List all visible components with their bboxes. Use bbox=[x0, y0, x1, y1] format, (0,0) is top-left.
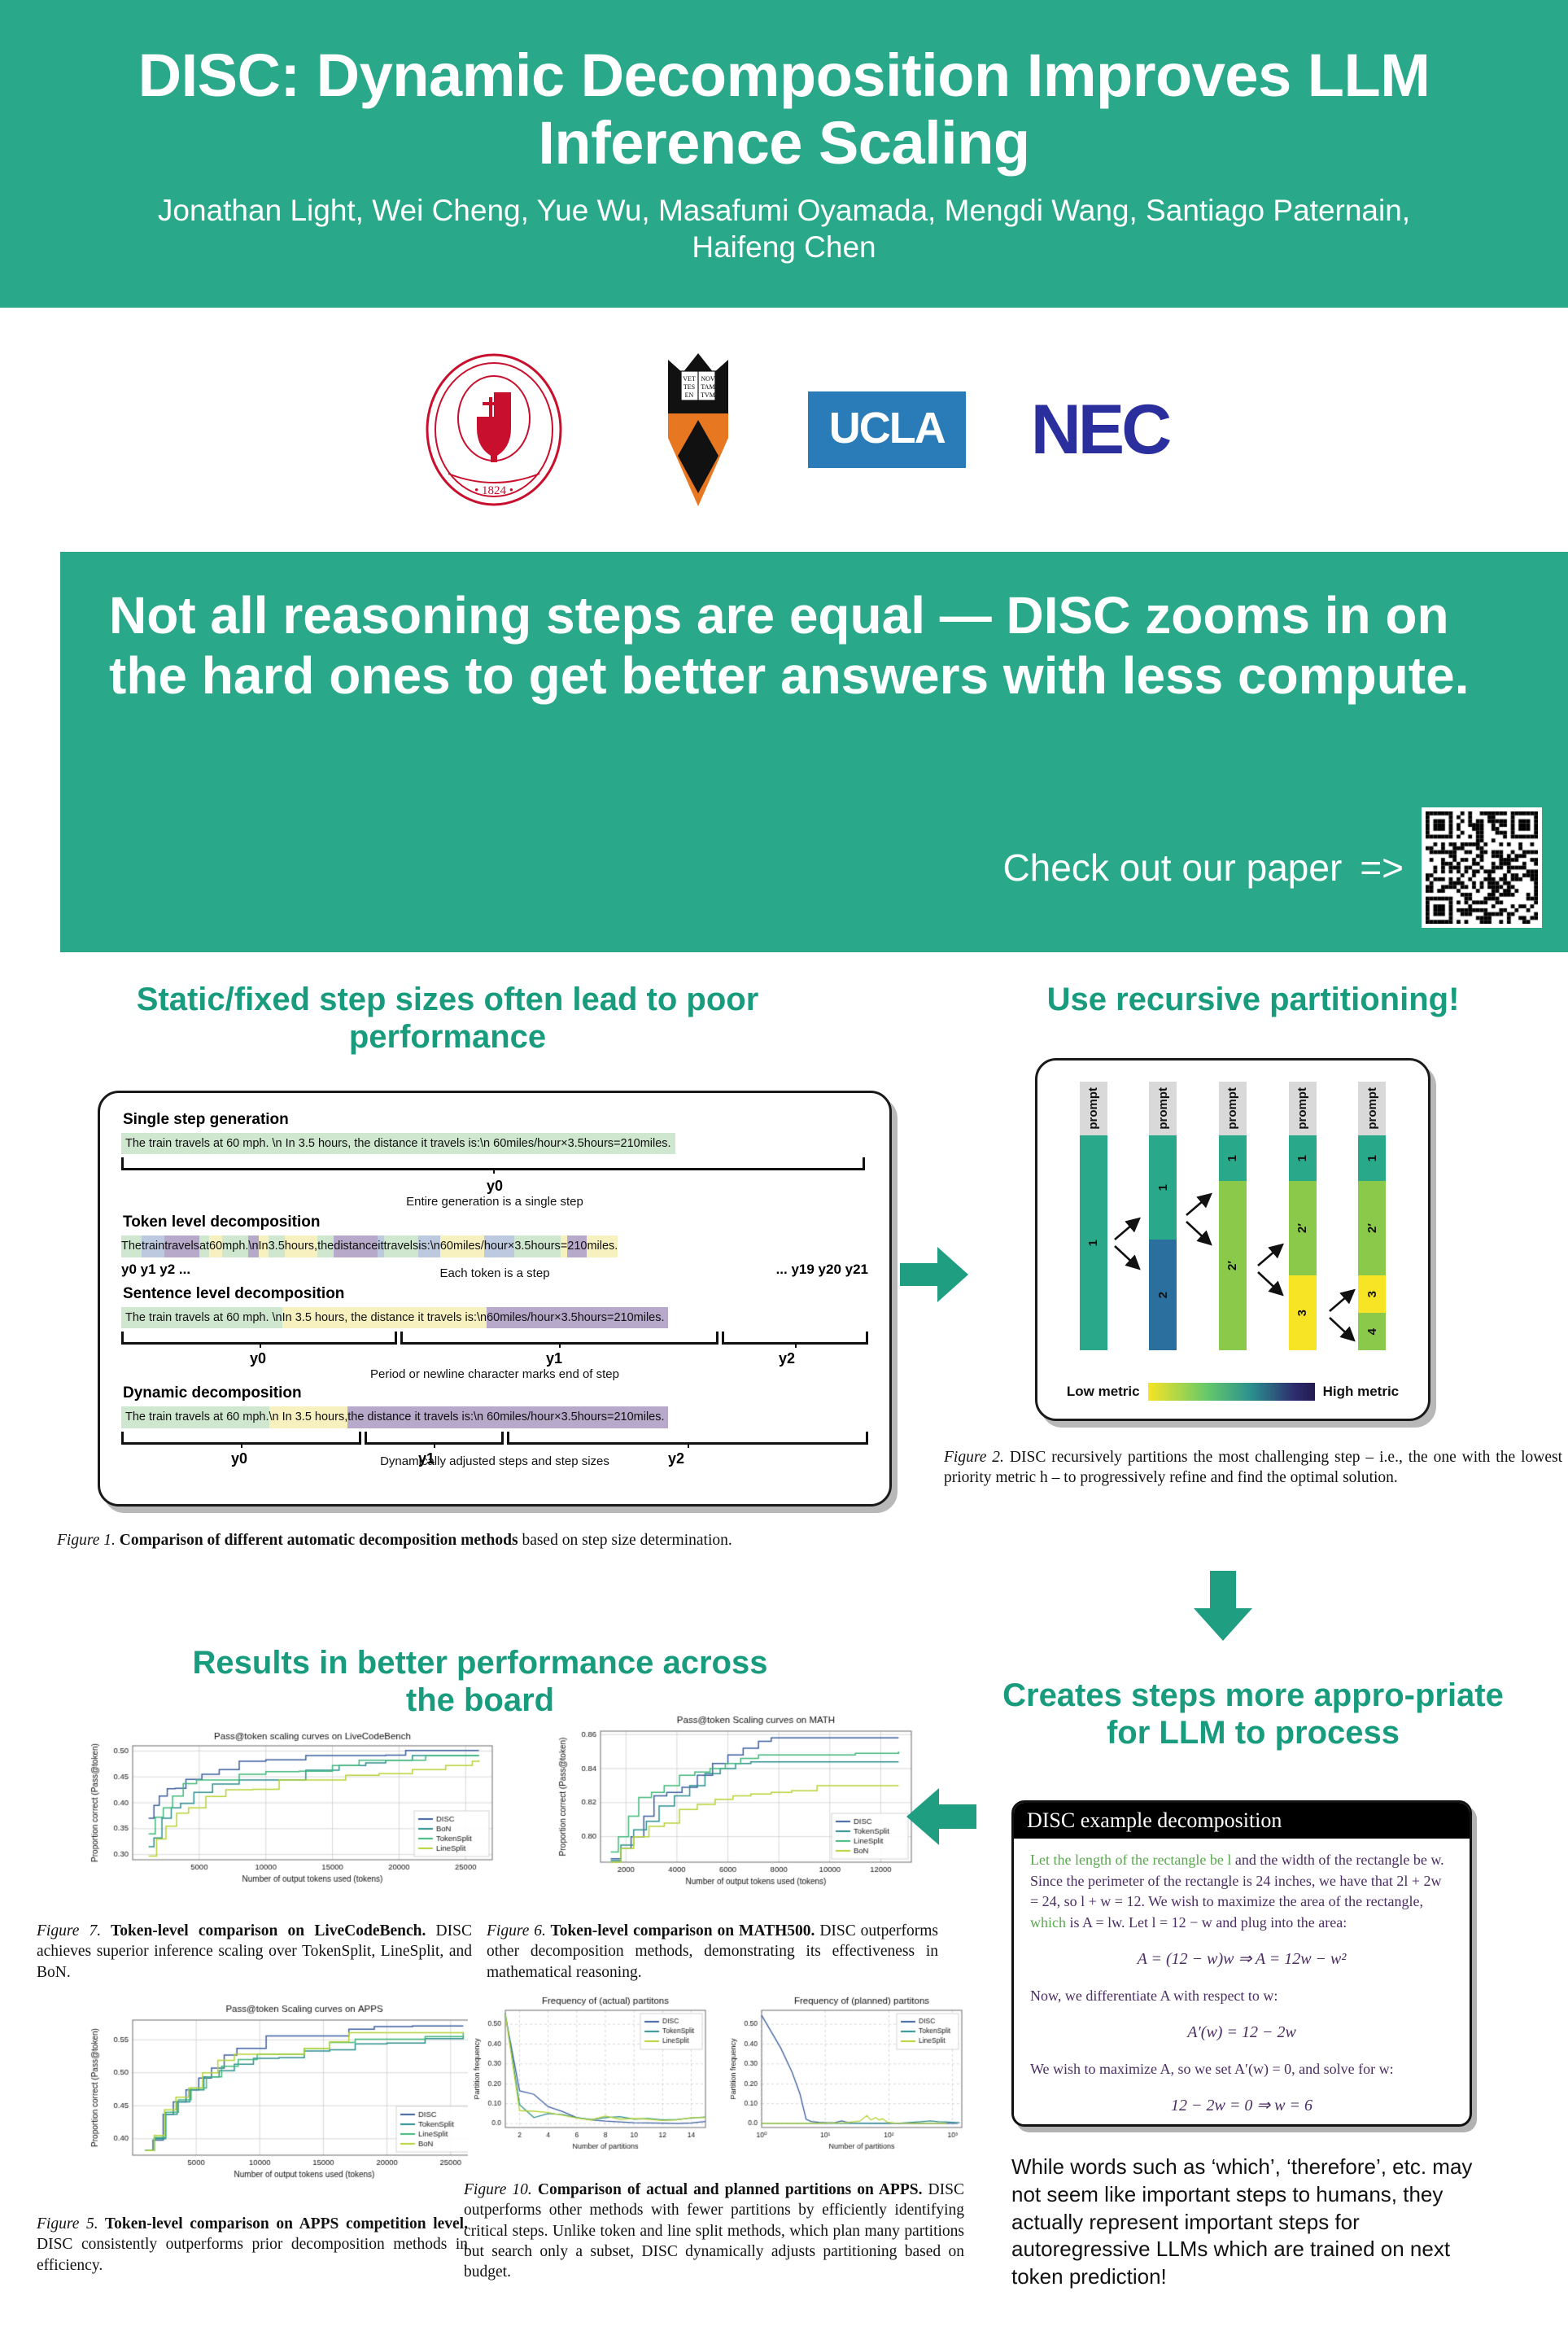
poster-header: DISC: Dynamic Decomposition Improves LLM… bbox=[0, 0, 1568, 308]
svg-text:TES: TES bbox=[684, 383, 695, 391]
f1-token: train bbox=[142, 1235, 164, 1257]
chart-fig6 bbox=[553, 1713, 919, 1896]
chart-fig10-planned bbox=[724, 1994, 968, 2157]
f1-note: Each token is a step bbox=[121, 1266, 868, 1280]
svg-text:TAM: TAM bbox=[701, 383, 714, 391]
f1-token: \n bbox=[248, 1235, 258, 1257]
arrow-right-icon bbox=[900, 1245, 970, 1304]
f1-seg: \n In 3.5 hours, bbox=[269, 1406, 348, 1428]
legend-low-metric: Low metric bbox=[1067, 1384, 1140, 1400]
f1-block-title: Token level decomposition bbox=[123, 1214, 868, 1231]
cap-bold: Token-level comparison on APPS competiti… bbox=[98, 2215, 468, 2232]
f1-token: 3.5hours bbox=[514, 1235, 560, 1257]
f1-token: 210 bbox=[567, 1235, 587, 1257]
figure10-caption: Figure 10. Comparison of actual and plan… bbox=[464, 2180, 964, 2283]
f1-token: mph. bbox=[222, 1235, 248, 1257]
f1-token: it bbox=[378, 1235, 383, 1257]
figure5-caption: Figure 5. Token-level comparison on APPS… bbox=[37, 2214, 468, 2276]
f1-sequence-sentence: The train travels at 60 mph. \n In 3.5 h… bbox=[121, 1307, 868, 1328]
disc-p1-green: Let the length of the rectangle be l bbox=[1030, 1852, 1231, 1868]
arrow-right-icon: => bbox=[1360, 846, 1404, 890]
f1-seg: In 3.5 hours, the distance it travels is… bbox=[282, 1307, 487, 1328]
cap-bold: Comparison of actual and planned partiti… bbox=[532, 2181, 923, 2198]
figure1-caption: Figure 1. Comparison of different automa… bbox=[57, 1530, 895, 1550]
f1-sequence-single: The train travels at 60 mph. \n In 3.5 h… bbox=[121, 1133, 868, 1154]
f1-cap-rest: based on step size determination. bbox=[518, 1532, 732, 1549]
ucla-logo: UCLA bbox=[808, 391, 966, 468]
cap-bold: Token-level comparison on LiveCodeBench. bbox=[101, 1922, 426, 1939]
f1-token: the bbox=[317, 1235, 334, 1257]
f2-cap-rest: DISC recursively partitions the most cha… bbox=[944, 1449, 1562, 1486]
f2-cap-prefix: Figure 2. bbox=[944, 1449, 1004, 1466]
cap-prefix: Figure 10. bbox=[464, 2181, 532, 2198]
disc-eq1: A = (12 − w)w ⇒ A = 12w − w² bbox=[1030, 1948, 1453, 1970]
f1-cap-prefix: Figure 1. bbox=[57, 1532, 116, 1549]
f1-note: Period or newline character marks end of… bbox=[121, 1367, 868, 1381]
svg-text:NOV: NOV bbox=[701, 375, 715, 383]
f1-token: travels bbox=[164, 1235, 199, 1257]
f1-seg: the distance it travels is:\n 60miles/ho… bbox=[347, 1406, 667, 1428]
f1-label: y0 bbox=[121, 1350, 395, 1367]
disc-example-box: DISC example decomposition Let the lengt… bbox=[1011, 1800, 1472, 2127]
cap-prefix: Figure 6. bbox=[487, 1922, 546, 1939]
f1-token: hour× bbox=[484, 1235, 515, 1257]
f1-label: y1 bbox=[395, 1350, 714, 1367]
disc-eq2: A′(w) = 12 − 2w bbox=[1030, 2021, 1453, 2044]
figure2-caption: Figure 2. DISC recursively partitions th… bbox=[944, 1447, 1562, 1489]
cta-row: Check out our paper => bbox=[1002, 807, 1568, 928]
svg-text:TVM: TVM bbox=[701, 391, 715, 399]
rpi-logo: • 1824 • bbox=[400, 352, 588, 508]
f1-token: miles. bbox=[587, 1235, 618, 1257]
f1-token: 60miles/ bbox=[440, 1235, 484, 1257]
disc-p1-rest2: is A = lw. Let l = 12 − w and plug into … bbox=[1066, 1914, 1347, 1931]
f1-block-title: Sentence level decomposition bbox=[123, 1285, 868, 1303]
chart-fig7 bbox=[85, 1730, 500, 1892]
qr-code[interactable] bbox=[1422, 807, 1542, 928]
disc-example-title: DISC example decomposition bbox=[1014, 1803, 1470, 1839]
nec-logo: NEC bbox=[1031, 390, 1169, 470]
f1-label: y2 bbox=[714, 1350, 860, 1367]
cap-prefix: Figure 5. bbox=[37, 2215, 98, 2232]
heading-static-step-sizes: Static/fixed step sizes often lead to po… bbox=[114, 981, 781, 1056]
f1-seg: The train travels at 60 mph. \n In 3.5 h… bbox=[121, 1133, 675, 1154]
disc-p2: Now, we differentiate A with respect to … bbox=[1030, 1986, 1453, 2007]
heading-creates-steps: Creates steps more appro-priate for LLM … bbox=[1001, 1677, 1505, 1752]
author-list: Jonathan Light, Wei Cheng, Yue Wu, Masaf… bbox=[0, 177, 1568, 265]
f1-seg: 60miles/hour×3.5hours=210miles. bbox=[487, 1307, 667, 1328]
f1-token: 3.5 bbox=[269, 1235, 285, 1257]
disc-eq3: 12 − 2w = 0 ⇒ w = 6 bbox=[1030, 2094, 1453, 2117]
chart-fig10-actual bbox=[468, 1994, 712, 2157]
bottom-note: While words such as ‘which’, ‘therefore’… bbox=[1011, 2154, 1492, 2291]
f1-token: 60 bbox=[209, 1235, 222, 1257]
cap-rest: DISC consistently outperforms prior deco… bbox=[37, 2236, 468, 2273]
f1-block-title: Single step generation bbox=[123, 1111, 868, 1129]
princeton-logo: VET TES EN NOV TAM TVM bbox=[653, 350, 743, 509]
figure1-card: Single step generation The train travels… bbox=[98, 1091, 892, 1507]
figure2-arrows bbox=[1037, 1060, 1428, 1419]
tagline-text: Not all reasoning steps are equal — DISC… bbox=[60, 552, 1568, 706]
f1-token: travels bbox=[384, 1235, 419, 1257]
heading-recursive-partitioning: Use recursive partitioning! bbox=[989, 981, 1518, 1018]
figure7-caption: Figure 7. Token-level comparison on Live… bbox=[37, 1921, 472, 1983]
f1-token: is:\n bbox=[418, 1235, 440, 1257]
affiliation-logos: • 1824 • VET TES EN NOV TAM TVM UCLA NEC bbox=[0, 308, 1568, 552]
f1-token: In bbox=[259, 1235, 269, 1257]
arrow-down-icon bbox=[1192, 1571, 1254, 1642]
f1-token: at bbox=[199, 1235, 209, 1257]
f1-note: Entire generation is a single step bbox=[121, 1195, 868, 1209]
svg-text:VET: VET bbox=[683, 375, 696, 383]
heading-results: Results in better performance across the… bbox=[187, 1644, 773, 1720]
f1-label: y0 bbox=[121, 1450, 357, 1467]
cta-label: Check out our paper bbox=[1002, 846, 1342, 890]
f1-token: = bbox=[561, 1235, 567, 1257]
cap-bold: Token-level comparison on MATH500. bbox=[546, 1922, 815, 1939]
f1-block-title: Dynamic decomposition bbox=[123, 1384, 868, 1402]
f1-token: hours, bbox=[285, 1235, 317, 1257]
f1-token: distance bbox=[334, 1235, 378, 1257]
legend-high-metric: High metric bbox=[1323, 1384, 1400, 1400]
f1-seg: The train travels at 60 mph. \n bbox=[121, 1307, 282, 1328]
f1-sequence-dynamic: The train travels at 60 mph. \n In 3.5 h… bbox=[121, 1406, 868, 1428]
cap-prefix: Figure 7. bbox=[37, 1922, 101, 1939]
svg-text:EN: EN bbox=[684, 391, 693, 399]
figure6-caption: Figure 6. Token-level comparison on MATH… bbox=[487, 1921, 938, 1983]
metric-gradient-bar bbox=[1148, 1383, 1315, 1401]
disc-p1-green2: which bbox=[1030, 1914, 1066, 1931]
chart-fig5 bbox=[85, 2002, 484, 2189]
disc-p3: We wish to maximize A, so we set A′(w) =… bbox=[1030, 2059, 1453, 2080]
page-title: DISC: Dynamic Decomposition Improves LLM… bbox=[0, 0, 1568, 177]
f1-token: The bbox=[121, 1235, 142, 1257]
disc-example-body: Let the length of the rectangle be l and… bbox=[1014, 1839, 1470, 2127]
f1-cap-bold: Comparison of different automatic decomp… bbox=[116, 1532, 518, 1549]
f1-seg: The train travels at 60 mph. bbox=[121, 1406, 269, 1428]
f1-token-labels-left: y0 y1 y2 ... bbox=[121, 1262, 190, 1278]
f1-label-y0: y0 bbox=[121, 1178, 868, 1195]
arrow-left-icon bbox=[903, 1786, 976, 1847]
rpi-year: • 1824 • bbox=[474, 484, 513, 497]
figure2-card: prompt1prompt12prompt12′prompt12′3prompt… bbox=[1035, 1058, 1430, 1421]
tagline-banner: Not all reasoning steps are equal — DISC… bbox=[60, 552, 1568, 952]
f1-sequence-tokens: The train travels at 60 mph. \n In 3.5 h… bbox=[121, 1235, 868, 1257]
f1-token-labels-right: ... y19 y20 y21 bbox=[776, 1262, 868, 1278]
